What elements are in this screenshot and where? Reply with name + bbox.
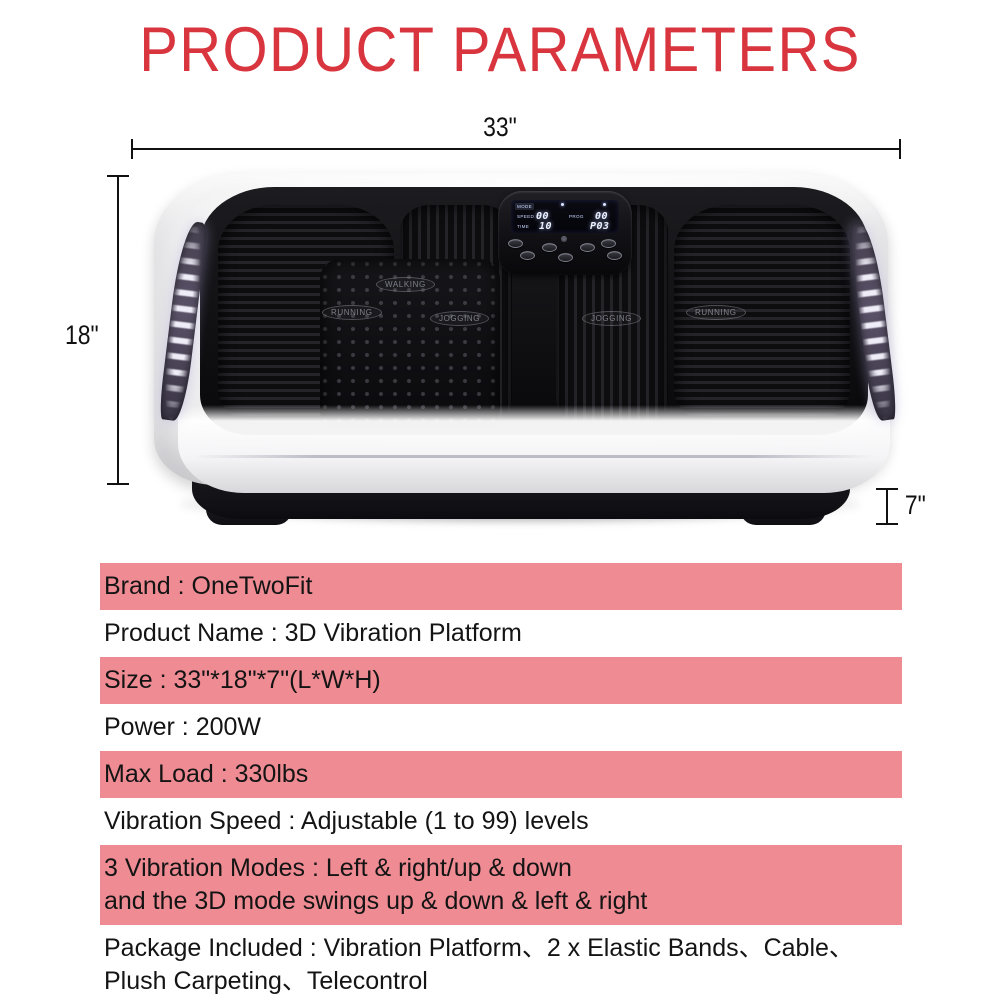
panel-button-1[interactable] [508, 239, 523, 248]
dimension-height-line [117, 175, 119, 485]
panel-button-3[interactable] [542, 243, 557, 252]
product-deck: RUNNING JOGGING WALKING JOGGING RUNNING … [200, 187, 868, 435]
dimension-height-label: 18" [65, 320, 99, 351]
panel-button-4[interactable] [558, 253, 573, 262]
lcd-label-speed: SPEED [515, 213, 536, 220]
control-panel[interactable]: MODE SPEED TIME PROG 00 00 10 P03 [498, 191, 632, 275]
spec-row: Power : 200W [100, 704, 902, 751]
panel-button-7[interactable] [607, 251, 622, 260]
product-shell: RUNNING JOGGING WALKING JOGGING RUNNING … [154, 173, 888, 485]
pad-badge-jogging-left: JOGGING [430, 311, 489, 326]
spec-row: Vibration Speed : Adjustable (1 to 99) l… [100, 798, 902, 845]
spec-row: Max Load : 330lbs [100, 751, 902, 798]
spec-row: Product Name : 3D Vibration Platform [100, 610, 902, 657]
lcd-label-time: TIME [515, 223, 531, 230]
panel-button-2[interactable] [520, 251, 535, 260]
lcd-value-time: 10 [539, 221, 552, 232]
lcd-label-mode: MODE [515, 203, 534, 210]
panel-button-6[interactable] [601, 239, 616, 248]
product-front-seam [194, 455, 874, 458]
pad-badge-running-right: RUNNING [686, 305, 746, 320]
pad-badge-running-left: RUNNING [322, 305, 382, 320]
spec-row: Package Included : Vibration Platform、2 … [100, 925, 902, 1000]
pad-badge-walking: WALKING [376, 277, 435, 292]
panel-button-5[interactable] [580, 243, 595, 252]
lcd-indicator-icon-1 [561, 203, 564, 206]
page-title: PRODUCT PARAMETERS [40, 14, 960, 86]
spec-table: Brand : OneTwoFitProduct Name : 3D Vibra… [100, 563, 902, 1000]
spec-row: Brand : OneTwoFit [100, 563, 902, 610]
lcd-display: MODE SPEED TIME PROG 00 00 10 P03 [511, 200, 619, 233]
product-front-bumper [178, 405, 890, 493]
lcd-indicator-icon-2 [603, 203, 606, 206]
pad-badge-jogging-right: JOGGING [582, 311, 641, 326]
product-parameters-infographic: PRODUCT PARAMETERS 33" 18" 7" RUNNING JO… [0, 0, 1000, 1000]
dimension-depth-label: 7" [905, 490, 926, 521]
dimension-width-label: 33" [75, 112, 925, 143]
lcd-value-program: P03 [590, 221, 610, 232]
lcd-label-program: PROG [567, 213, 586, 220]
power-indicator-icon [561, 236, 567, 242]
dimension-width-line [131, 148, 901, 150]
spec-row: Size : 33"*18"*7"(L*W*H) [100, 657, 902, 704]
product-illustration: RUNNING JOGGING WALKING JOGGING RUNNING … [140, 165, 900, 540]
spec-row: 3 Vibration Modes : Left & right/up & do… [100, 845, 902, 925]
